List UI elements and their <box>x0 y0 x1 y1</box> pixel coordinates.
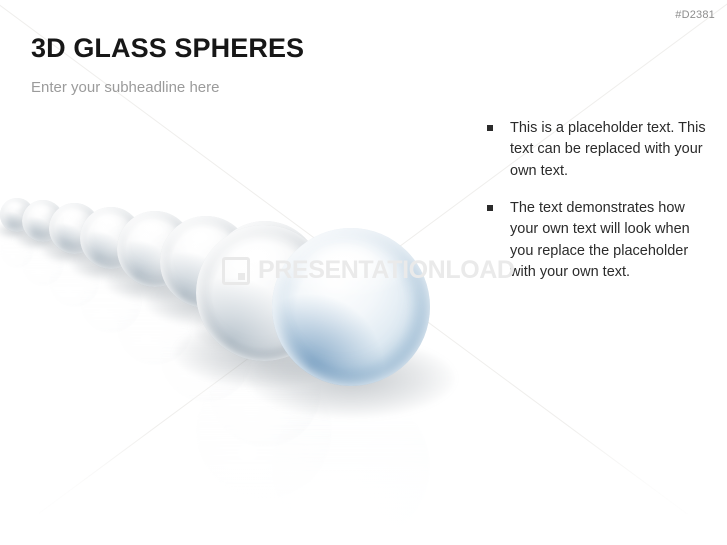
glass-sphere-highlighted <box>272 228 430 386</box>
slide-canvas: #D2381 3D GLASS SPHERES Enter your subhe… <box>0 0 727 545</box>
glass-sphere-graphic <box>0 0 727 545</box>
sphere-reflection <box>272 388 430 545</box>
